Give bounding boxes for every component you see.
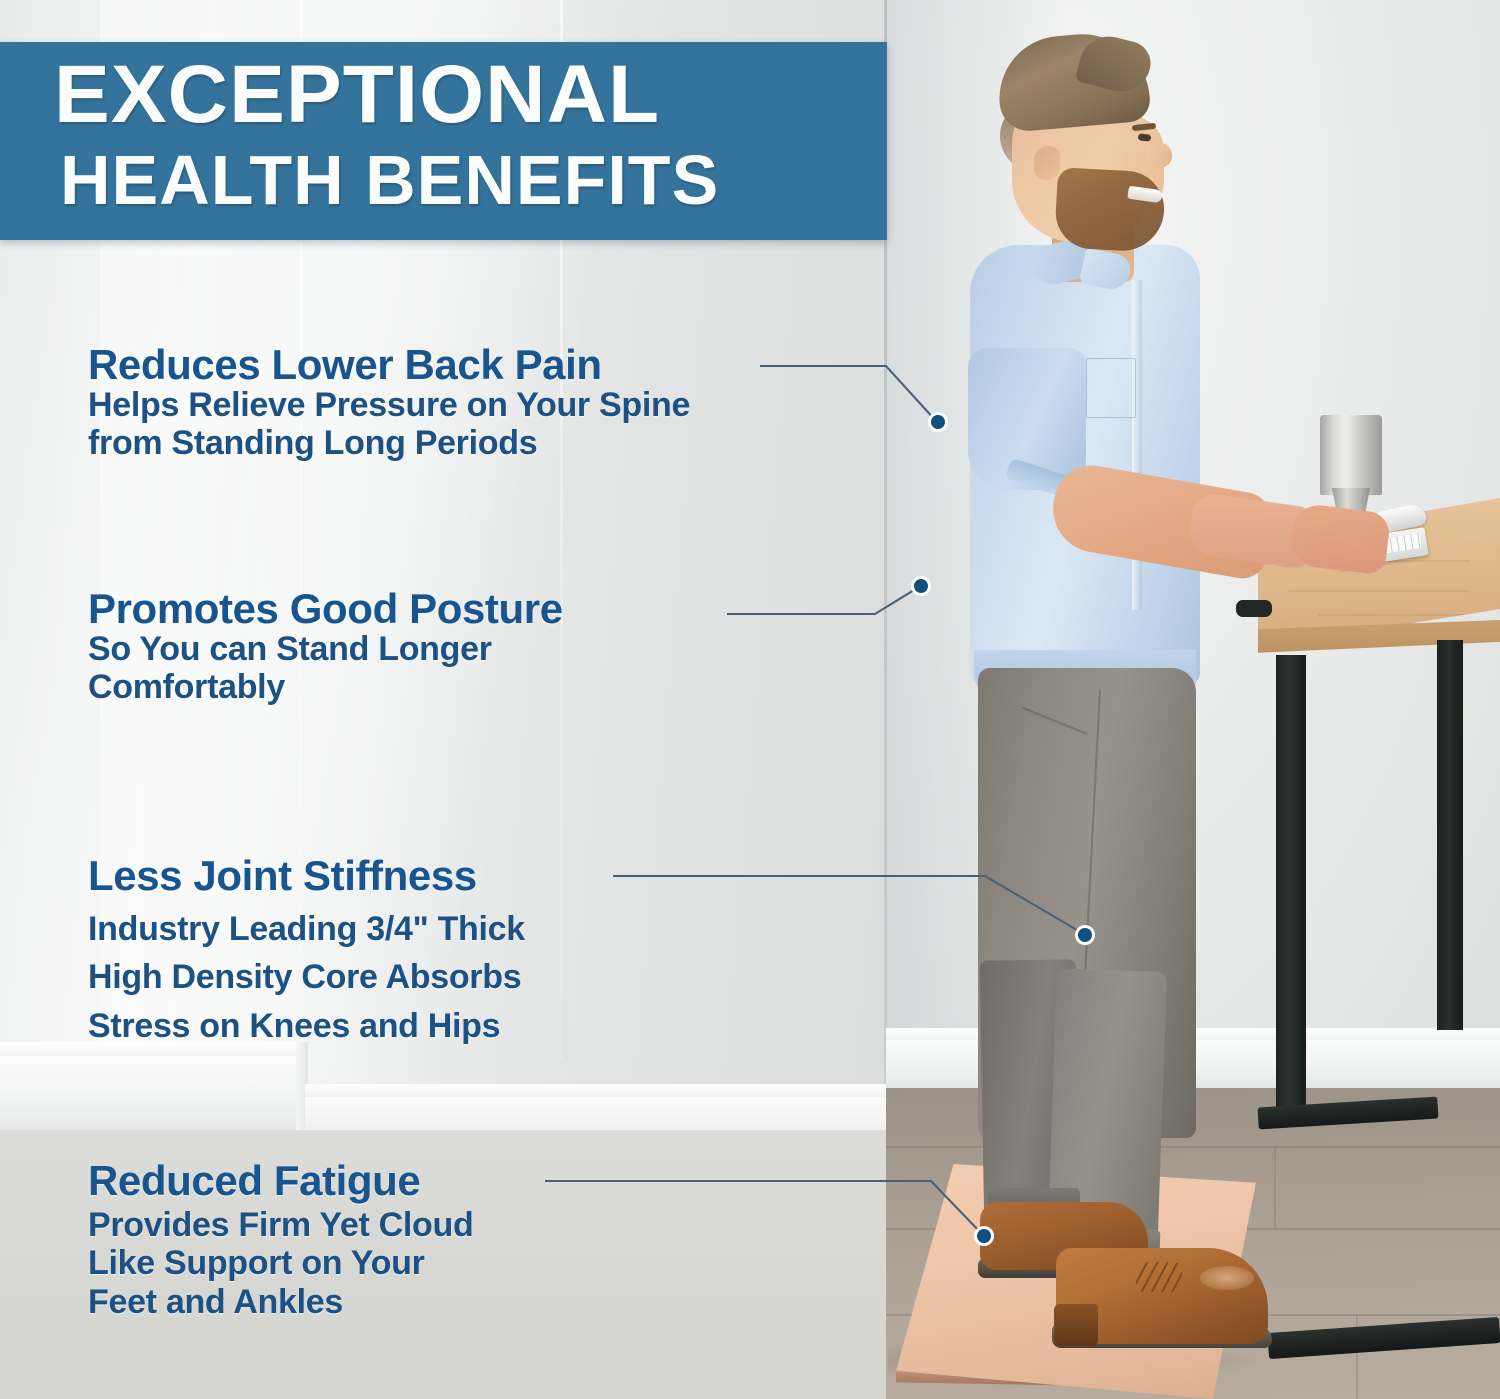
infographic-root: EXCEPTIONAL HEALTH BENEFITS Reduces Lowe…	[0, 0, 1500, 1399]
benefit-2-line-2: Comfortably	[88, 668, 563, 706]
benefit-4-line-1: Provides Firm Yet Cloud	[88, 1206, 473, 1244]
leader-line-4	[545, 1181, 982, 1234]
leader-line-2	[727, 587, 919, 614]
benefit-3-line-1: Industry Leading 3/4" Thick	[88, 905, 525, 953]
benefit-3-line-2: High Density Core Absorbs	[88, 953, 525, 1001]
benefit-2: Promotes Good Posture So You can Stand L…	[88, 588, 563, 707]
benefit-4-title: Reduced Fatigue	[88, 1160, 473, 1202]
benefit-1: Reduces Lower Back Pain Helps Relieve Pr…	[88, 344, 690, 463]
leader-line-3	[613, 876, 1082, 933]
callout-dot-3	[1078, 928, 1092, 942]
callout-dot-1	[931, 415, 945, 429]
benefit-1-line-1: Helps Relieve Pressure on Your Spine	[88, 386, 690, 424]
leader-line-1	[760, 366, 936, 421]
benefit-3-title: Less Joint Stiffness	[88, 855, 525, 897]
benefit-2-title: Promotes Good Posture	[88, 588, 563, 630]
benefit-3-line-3: Stress on Knees and Hips	[88, 1002, 525, 1050]
benefit-4-line-3: Feet and Ankles	[88, 1283, 473, 1321]
benefit-1-title: Reduces Lower Back Pain	[88, 344, 690, 386]
callout-dot-4	[977, 1229, 991, 1243]
callout-dot-2	[914, 579, 928, 593]
benefit-3: Less Joint Stiffness Industry Leading 3/…	[88, 855, 525, 1050]
benefit-2-line-1: So You can Stand Longer	[88, 630, 563, 668]
benefit-4-line-2: Like Support on Your	[88, 1244, 473, 1282]
benefit-4: Reduced Fatigue Provides Firm Yet Cloud …	[88, 1160, 473, 1321]
benefit-1-line-2: from Standing Long Periods	[88, 424, 690, 462]
